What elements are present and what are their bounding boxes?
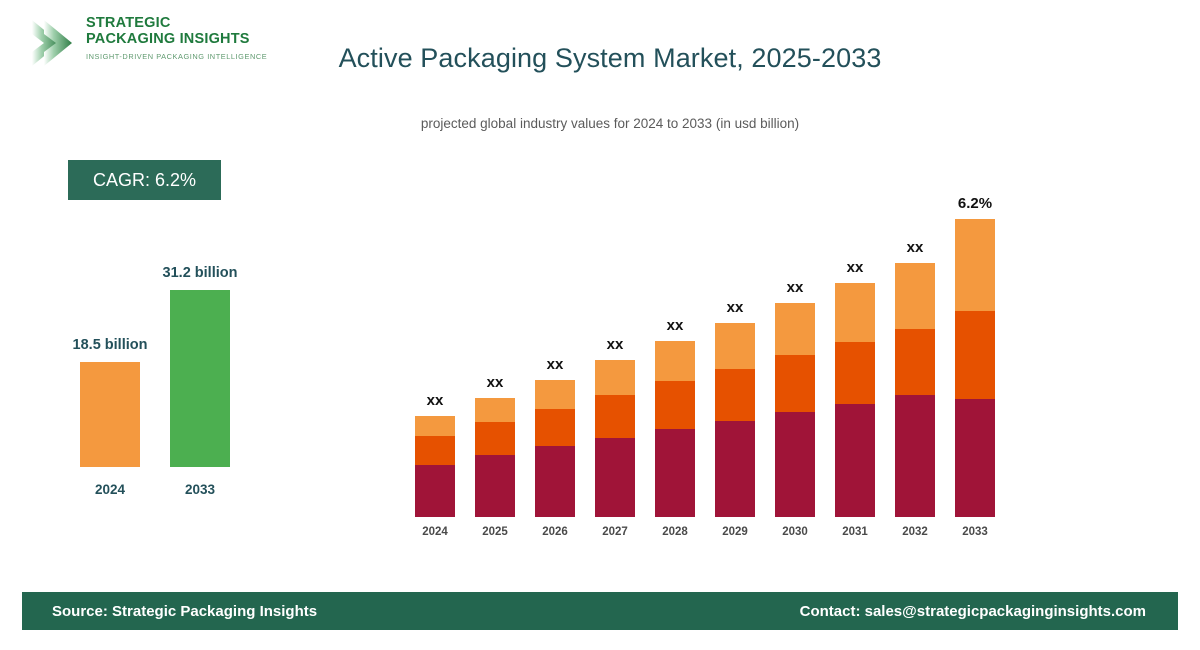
stacked-bar-year-label: 2028 xyxy=(662,526,688,538)
stacked-bar-value-label: xx xyxy=(787,279,804,296)
stacked-bar-segment xyxy=(775,303,815,355)
stacked-bar-segment xyxy=(895,263,935,329)
overview-bar: 31.2 billion2033 xyxy=(170,290,230,467)
stacked-bar-segment xyxy=(595,360,635,395)
stacked-bar-value-label: 6.2% xyxy=(958,195,992,212)
stacked-bar-segment xyxy=(475,398,515,422)
overview-bar-value-label: 31.2 billion xyxy=(163,265,238,281)
stacked-bar: 6.2%2033 xyxy=(955,219,995,517)
stacked-bar-segment xyxy=(835,404,875,517)
stacked-bar-year-label: 2030 xyxy=(782,526,808,538)
stacked-bar-segment xyxy=(955,311,995,399)
stacked-bar-segment xyxy=(415,436,455,465)
footer-bar: Source: Strategic Packaging Insights Con… xyxy=(22,592,1178,630)
page-title: Active Packaging System Market, 2025-203… xyxy=(300,43,920,74)
stacked-bar-year-label: 2031 xyxy=(842,526,868,538)
stacked-bar-segment xyxy=(655,429,695,517)
stacked-bar: xx2032 xyxy=(895,263,935,517)
stacked-bar-value-label: xx xyxy=(847,259,864,276)
stacked-bar-segment xyxy=(475,455,515,517)
stacked-bar-segment xyxy=(775,355,815,412)
stacked-bar-segment xyxy=(715,421,755,517)
stacked-bar-value-label: xx xyxy=(427,392,444,409)
stacked-bar-year-label: 2032 xyxy=(902,526,928,538)
stacked-bar-value-label: xx xyxy=(487,374,504,391)
stacked-bar-value-label: xx xyxy=(547,356,564,373)
overview-bar-year-label: 2024 xyxy=(95,482,125,497)
overview-bar-value-label: 18.5 billion xyxy=(73,337,148,353)
stacked-bar: xx2026 xyxy=(535,380,575,517)
stacked-bar: xx2028 xyxy=(655,341,695,517)
stacked-bar-segment xyxy=(655,381,695,429)
stacked-bar-value-label: xx xyxy=(727,299,744,316)
overview-bar-chart: 18.5 billion202431.2 billion2033 xyxy=(0,0,330,580)
stacked-bar-segment xyxy=(595,395,635,438)
stacked-bar-year-label: 2033 xyxy=(962,526,988,538)
stacked-bar-segment xyxy=(715,323,755,369)
footer-contact-text: Contact: sales@strategicpackaginginsight… xyxy=(800,603,1146,620)
stacked-bar-segment xyxy=(895,329,935,395)
stacked-bar: xx2025 xyxy=(475,398,515,517)
stacked-bar-segment xyxy=(655,341,695,381)
stacked-bar-segment xyxy=(415,416,455,436)
page-subtitle: projected global industry values for 202… xyxy=(300,116,920,131)
stacked-bar-segment xyxy=(835,283,875,342)
stacked-bar: xx2024 xyxy=(415,416,455,517)
footer-source-text: Source: Strategic Packaging Insights xyxy=(52,603,317,620)
stacked-bar-year-label: 2026 xyxy=(542,526,568,538)
stacked-bar-segment xyxy=(595,438,635,517)
stacked-bar-segment xyxy=(835,342,875,404)
overview-bar: 18.5 billion2024 xyxy=(80,362,140,467)
stacked-bar-segment xyxy=(895,395,935,517)
overview-bar-rect xyxy=(80,362,140,467)
stacked-bar-value-label: xx xyxy=(607,336,624,353)
stacked-bar-segment xyxy=(535,380,575,409)
forecast-stacked-bar-chart: xx2024xx2025xx2026xx2027xx2028xx2029xx20… xyxy=(395,180,1015,560)
stacked-bar: xx2030 xyxy=(775,303,815,517)
stacked-bar-segment xyxy=(955,219,995,311)
stacked-bar-segment xyxy=(535,446,575,517)
stacked-bar-segment xyxy=(775,412,815,517)
stacked-bar-year-label: 2024 xyxy=(422,526,448,538)
stacked-bar-year-label: 2027 xyxy=(602,526,628,538)
overview-bar-year-label: 2033 xyxy=(185,482,215,497)
overview-bar-rect xyxy=(170,290,230,467)
stacked-bar: xx2029 xyxy=(715,323,755,517)
stacked-bar-year-label: 2029 xyxy=(722,526,748,538)
stacked-bar-value-label: xx xyxy=(667,317,684,334)
stacked-bar-value-label: xx xyxy=(907,239,924,256)
stacked-bar-segment xyxy=(475,422,515,455)
stacked-bar-segment xyxy=(715,369,755,421)
stacked-bar-segment xyxy=(535,409,575,446)
stacked-bar-segment xyxy=(955,399,995,517)
stacked-bar: xx2027 xyxy=(595,360,635,517)
stacked-bar-segment xyxy=(415,465,455,517)
stacked-bar: xx2031 xyxy=(835,283,875,517)
stacked-bar-year-label: 2025 xyxy=(482,526,508,538)
